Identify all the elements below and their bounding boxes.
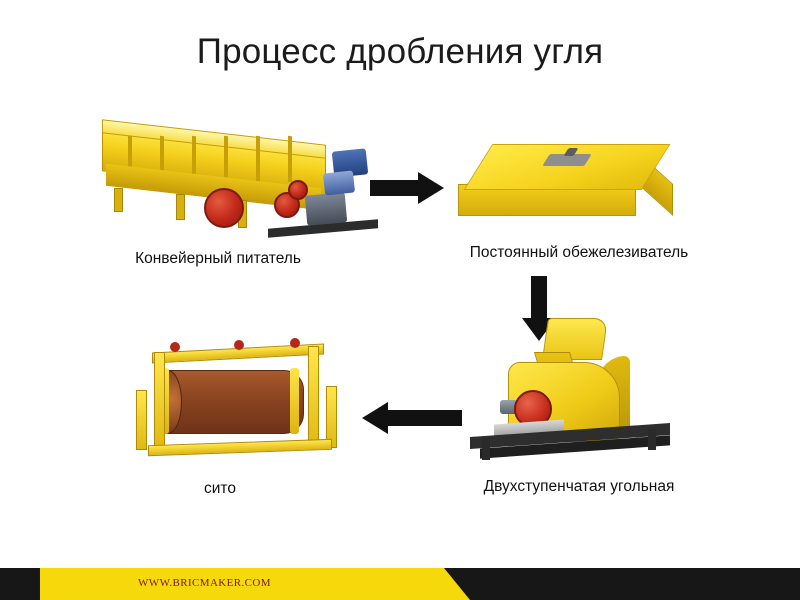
conveyor-wheel-icon (204, 188, 244, 228)
screen-cap-icon (290, 338, 300, 348)
screen-frame-post-icon (308, 346, 319, 448)
conveyor-rib-icon (224, 136, 228, 182)
screen-cap-icon (234, 340, 244, 350)
crusher-leg-icon (482, 438, 490, 460)
arrow-left-1 (358, 400, 462, 441)
node-screen: сито (130, 330, 340, 470)
conveyor-leg-icon (114, 188, 123, 212)
conveyor-rib-icon (256, 136, 260, 182)
footer-bar: WWW.BRICMAKER.COM (0, 568, 800, 600)
node-magnetic-separator: Постоянный обежелезиватель (470, 136, 685, 236)
screen-band-icon (290, 368, 299, 434)
node-coal-crusher: Двухступенчатая угольная (470, 318, 690, 468)
page-title: Процесс дробления угля (0, 32, 800, 72)
caption-screen: сито (120, 480, 320, 498)
screen-frame-post-icon (136, 390, 147, 450)
conveyor-pulley-icon (288, 180, 308, 200)
screen-base-rail-icon (148, 439, 332, 456)
footer-block-left (0, 568, 40, 600)
footer-wedge (444, 568, 470, 600)
conveyor-gearbox-icon (305, 192, 347, 225)
screen-frame-post-icon (154, 352, 165, 448)
caption-coal-crusher: Двухступенчатая угольная (448, 478, 710, 496)
screen-drum-icon (162, 370, 304, 434)
caption-conveyor-feeder: Конвейерный питатель (50, 250, 386, 268)
slide-canvas: Процесс дробления угля Конвейерный питат… (0, 0, 800, 600)
crusher-leg-icon (648, 428, 656, 450)
footer-block-right (470, 568, 800, 600)
node-conveyor-feeder: Конвейерный питатель (88, 132, 348, 242)
conveyor-leg-icon (176, 194, 185, 220)
conveyor-rib-icon (288, 136, 292, 182)
footer-url: WWW.BRICMAKER.COM (138, 577, 271, 589)
caption-magnetic-separator: Постоянный обежелезиватель (440, 244, 718, 262)
screen-cap-icon (170, 342, 180, 352)
arrow-right-1 (370, 170, 448, 211)
conveyor-motor-secondary-icon (323, 170, 355, 195)
